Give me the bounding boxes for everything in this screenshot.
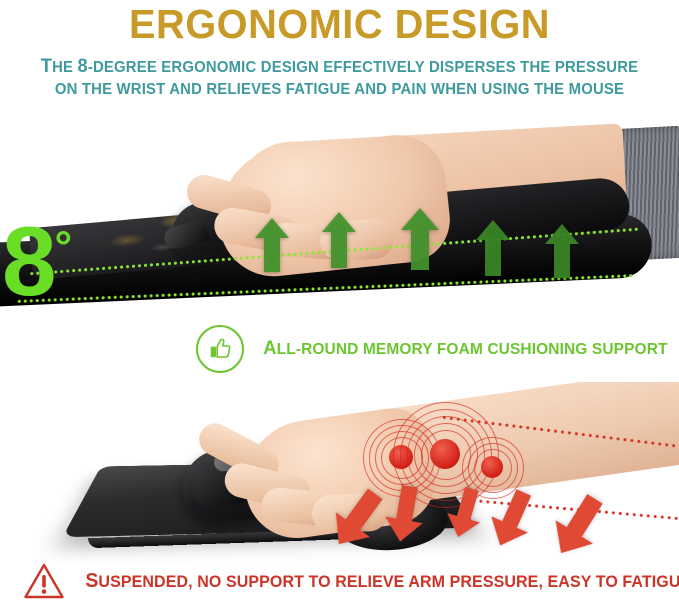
warning-triangle-icon bbox=[22, 560, 66, 602]
subtitle-line-2: ON THE WRIST AND RELIEVES FATIGUE AND PA… bbox=[14, 79, 666, 100]
flat-mousepad-photo bbox=[0, 382, 679, 568]
positive-caption: ALL-ROUND MEMORY FOAM CUSHIONING SUPPORT bbox=[196, 324, 666, 374]
header-section: ERGONOMIC DESIGN THE 8-DEGREE ERGONOMIC … bbox=[0, 0, 679, 118]
negative-caption-text: SUSPENDED, NO SUPPORT TO RELIEVE ARM PRE… bbox=[85, 570, 679, 593]
positive-caption-text: ALL-ROUND MEMORY FOAM CUSHIONING SUPPORT bbox=[263, 338, 667, 360]
subtitle-text-a: HE bbox=[52, 59, 77, 76]
subtitle-line-1: THE 8-DEGREE ERGONOMIC DESIGN EFFECTIVEL… bbox=[14, 56, 666, 78]
subtitle-dropcap: T bbox=[41, 56, 52, 77]
negative-caption: SUSPENDED, NO SUPPORT TO RELIEVE ARM PRE… bbox=[22, 556, 672, 606]
subtitle-text-b: -DEGREE ERGONOMIC DESIGN EFFECTIVELY DIS… bbox=[88, 59, 638, 76]
angle-value: 8 bbox=[2, 206, 55, 316]
pressure-arrow-icon bbox=[542, 487, 613, 565]
negative-caption-rest: USPENDED, NO SUPPORT TO RELIEVE ARM PRES… bbox=[98, 573, 679, 591]
ergonomic-wrist-rest-photo bbox=[0, 120, 679, 320]
angle-badge: 8° bbox=[2, 212, 70, 310]
positive-caption-rest: LL-ROUND MEMORY FOAM CUSHIONING SUPPORT bbox=[277, 341, 668, 358]
subtitle-degree-number: 8 bbox=[77, 56, 87, 77]
negative-caption-dropcap: S bbox=[85, 570, 98, 592]
page-title: ERGONOMIC DESIGN bbox=[10, 0, 669, 46]
positive-caption-dropcap: A bbox=[263, 338, 276, 359]
thumbs-up-icon bbox=[196, 325, 244, 373]
angle-degree-symbol: ° bbox=[55, 222, 71, 271]
